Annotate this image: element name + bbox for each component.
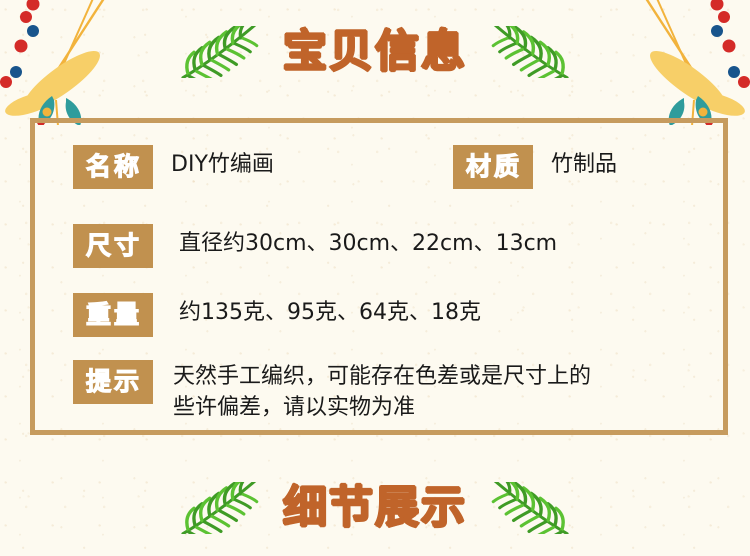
info-label-name: 名称 — [73, 145, 153, 189]
footer-title-row: 细节展示 — [0, 482, 750, 534]
info-value-weight: 约135克、95克、64克、18克 — [179, 293, 673, 328]
info-row-weight: 重量 约135克、95克、64克、18克 — [73, 293, 673, 337]
info-value-note: 天然手工编织，可能存在色差或是尺寸上的 些许偏差，请以实物为准 — [173, 360, 703, 423]
footer-title: 细节展示 — [283, 486, 467, 530]
info-label-note: 提示 — [73, 360, 153, 404]
info-row-size: 尺寸 直径约30cm、30cm、22cm、13cm — [73, 224, 693, 268]
info-row-note: 提示 天然手工编织，可能存在色差或是尺寸上的 些许偏差，请以实物为准 — [73, 360, 703, 423]
info-value-name: DIY竹编画 — [171, 145, 323, 180]
info-label-material: 材质 — [453, 145, 533, 189]
header-title-row: 宝贝信息 — [0, 26, 750, 78]
fern-leaf-icon-left — [169, 26, 269, 78]
page-title: 宝贝信息 — [283, 30, 467, 74]
info-value-size: 直径约30cm、30cm、22cm、13cm — [179, 224, 693, 259]
product-info-box: 名称 DIY竹编画 材质 竹制品 尺寸 直径约30cm、30cm、22cm、13… — [30, 118, 728, 435]
info-label-weight: 重量 — [73, 293, 153, 337]
info-row-material: 材质 竹制品 — [453, 145, 693, 189]
info-label-size: 尺寸 — [73, 224, 153, 268]
fern-leaf-icon-right — [481, 482, 581, 534]
fern-leaf-icon-left — [169, 482, 269, 534]
fern-leaf-icon-right — [481, 26, 581, 78]
info-value-material: 竹制品 — [551, 145, 693, 180]
info-row-name: 名称 DIY竹编画 — [73, 145, 323, 189]
